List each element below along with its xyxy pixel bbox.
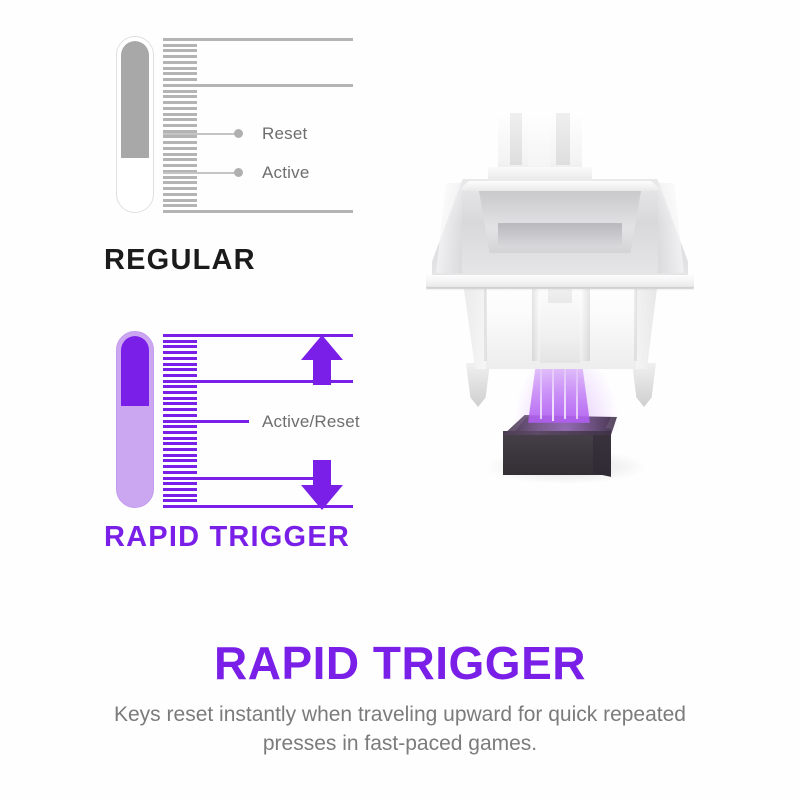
ruler-tick (163, 414, 197, 417)
switch-flange-shadow (426, 287, 694, 291)
infographic-canvas: Reset Active REGULAR Active/Reset (0, 0, 800, 800)
switch-stem-base (488, 167, 592, 181)
rapid-travel-slider[interactable] (116, 331, 154, 508)
ruler-tick (163, 351, 197, 354)
switch-rib-shadow-left (532, 281, 540, 361)
rapid-section-title: RAPID TRIGGER (104, 521, 350, 554)
ruler-tick (163, 494, 197, 497)
rapid-slider-fill (121, 336, 149, 406)
ruler-tick (163, 471, 197, 474)
ruler-tick (163, 340, 197, 343)
ruler-tick (163, 425, 197, 428)
ruler-tick (163, 431, 197, 434)
ruler-tick (163, 488, 197, 491)
ruler-tick (163, 385, 197, 388)
ruler-tick (163, 454, 197, 457)
rapid-activereset-label: Active/Reset (262, 412, 360, 432)
caption-title: RAPID TRIGGER (0, 636, 800, 690)
ruler-tick (163, 397, 197, 400)
switch-housing-left-edge (436, 183, 462, 273)
ruler-tick (163, 408, 197, 411)
ruler-tick (163, 368, 197, 371)
switch-stem-slot-left (510, 113, 522, 165)
arrow-up-icon (298, 334, 346, 386)
ruler-tick (163, 357, 197, 360)
ruler-tick (163, 391, 197, 394)
ruler-tick (163, 374, 197, 377)
ruler-tick (163, 442, 197, 445)
rapid-slider-inner (121, 336, 149, 503)
switch-body-groove-left (484, 281, 487, 361)
ruler-tick (163, 345, 197, 348)
ruler-tick (163, 448, 197, 451)
ruler-tick (163, 482, 197, 485)
ruler-tick (163, 363, 197, 366)
ruler-tick (163, 499, 197, 502)
ruler-tick (163, 459, 197, 462)
ruler-tick (163, 437, 197, 440)
rapid-activereset-leader (163, 420, 249, 423)
switch-body-groove-right (634, 281, 637, 361)
switch-housing-top-highlight (446, 181, 674, 191)
switch-stem-slot-right (556, 113, 570, 165)
arrow-down-icon (298, 459, 346, 511)
mechanical-switch-illustration (400, 95, 720, 495)
rapid-trigger-diagram: Active/Reset RAPID TRIGGER (0, 0, 400, 570)
caption-body: Keys reset instantly when traveling upwa… (90, 700, 710, 758)
ruler-tick (163, 402, 197, 405)
ruler-tick (163, 465, 197, 468)
switch-rib-shadow-right (580, 281, 590, 361)
switch-pin-right (632, 363, 656, 407)
switch-housing-cavity-floor (498, 223, 622, 247)
switch-pin-left (466, 363, 490, 407)
switch-housing-right-edge (658, 183, 684, 273)
